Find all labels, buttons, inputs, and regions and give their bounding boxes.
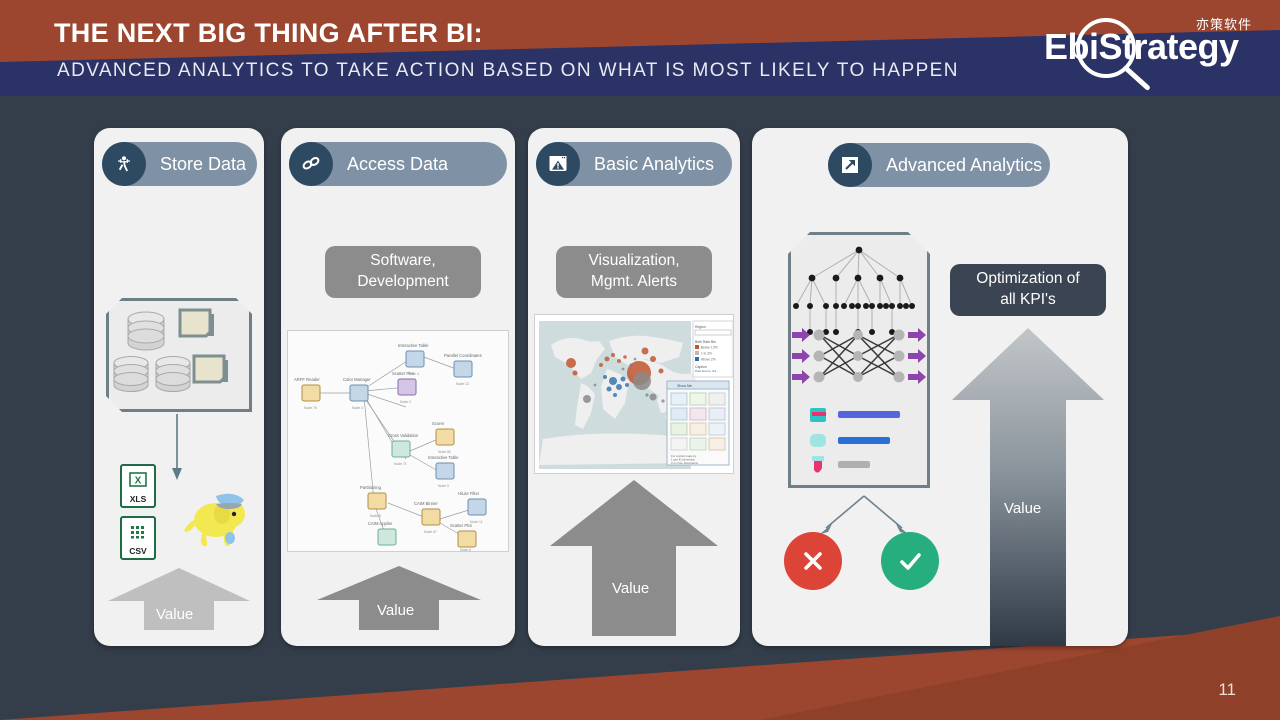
x-mark-icon	[798, 546, 828, 576]
svg-text:Node 8: Node 8	[460, 548, 471, 552]
svg-text:Node 67: Node 67	[424, 530, 437, 534]
logo-e: E	[1044, 26, 1068, 67]
value-label-store-data: Value	[156, 606, 193, 623]
reject-outcome	[784, 532, 842, 590]
value-arrow-access-data	[317, 566, 481, 630]
callout-access-data: Software, Development	[325, 246, 481, 298]
slide-canvas: THE NEXT BIG THING AFTER BI: ADVANCED AN…	[0, 0, 1280, 720]
world-map-dashboard-thumbnail: Region Birth Rate Bin Below 1.5% 1 to 2%…	[534, 314, 734, 474]
svg-text:Node 76: Node 76	[304, 406, 317, 410]
svg-text:Node 71: Node 71	[394, 462, 407, 466]
hadoop-elephant-icon	[172, 484, 250, 552]
value-label-basic-analytics: Value	[612, 580, 649, 597]
svg-text:Interactive Table: Interactive Table	[398, 343, 429, 348]
value-arrow-advanced-analytics	[952, 328, 1104, 646]
brand-logo: 亦策软件 EbiStrategy	[1028, 8, 1258, 86]
svg-text:Parallel Coordinates: Parallel Coordinates	[444, 353, 482, 358]
callout-basic-analytics-line1: Visualization,	[588, 252, 679, 269]
svg-text:0 or more dimensions: 0 or more dimensions	[671, 461, 698, 465]
svg-text:Node 4: Node 4	[408, 372, 419, 376]
svg-text:Partitioning: Partitioning	[360, 485, 382, 490]
accept-outcome	[881, 532, 939, 590]
svg-text:HiLite Filter: HiLite Filter	[458, 491, 480, 496]
callout-basic-analytics: Visualization, Mgmt. Alerts	[556, 246, 712, 298]
page-subtitle: ADVANCED ANALYTICS TO TAKE ACTION BASED …	[57, 60, 959, 82]
svg-text:Above 2%: Above 2%	[701, 358, 716, 362]
svg-text:Birth Rate Bin: Birth Rate Bin	[695, 340, 716, 344]
weightlifter-icon	[102, 142, 146, 186]
flow-arrow-down-icon	[170, 414, 184, 482]
panel-store-data[interactable]: Store Data	[94, 128, 264, 646]
svg-text:Below 1.5%: Below 1.5%	[701, 346, 718, 350]
svg-text:CAIM Applier: CAIM Applier	[368, 521, 393, 526]
svg-text:Node 80: Node 80	[438, 450, 451, 454]
value-label-access-data: Value	[377, 602, 414, 619]
panel-advanced-analytics[interactable]: Advanced Analytics	[752, 128, 1128, 646]
panel-access-data-pill[interactable]: Access Data	[289, 142, 507, 186]
panel-basic-analytics[interactable]: Basic Analytics Visualization, Mgmt. Ale…	[528, 128, 740, 646]
value-label-advanced-analytics: Value	[1004, 500, 1041, 517]
svg-text:X: X	[135, 476, 142, 487]
callout-basic-analytics-line2: Mgmt. Alerts	[591, 273, 677, 290]
csv-file-label: CSV	[129, 546, 146, 556]
recommendation-bars-icon	[808, 406, 918, 478]
datastore-contents-icon	[106, 298, 252, 412]
knime-workflow-thumbnail: ARFF ReaderColor Manager Interactive Tab…	[287, 330, 509, 552]
panel-basic-analytics-label: Basic Analytics	[580, 154, 732, 175]
trend-arrow-icon	[828, 143, 872, 187]
callout-access-data-line2: Development	[357, 273, 448, 290]
svg-text:Node 9: Node 9	[438, 484, 449, 488]
value-arrow-basic-analytics	[550, 480, 718, 636]
panel-store-data-label: Store Data	[146, 154, 264, 175]
svg-text:Node 11: Node 11	[470, 520, 483, 524]
callout-advanced-analytics: Optimization of all KPI's	[950, 264, 1106, 316]
svg-text:Region: Region	[695, 325, 706, 329]
svg-text:Cross Validation: Cross Validation	[388, 433, 419, 438]
panel-advanced-analytics-pill[interactable]: Advanced Analytics	[828, 143, 1050, 187]
svg-text:Node 3: Node 3	[352, 406, 363, 410]
svg-text:Node 5: Node 5	[370, 514, 381, 518]
neural-network-icon	[792, 326, 926, 392]
svg-text:Node 13: Node 13	[456, 382, 469, 386]
csv-file-icon: CSV	[120, 516, 156, 560]
xls-file-label: XLS	[130, 494, 147, 504]
panel-store-data-pill[interactable]: Store Data	[102, 142, 257, 186]
svg-text:ARFF Reader: ARFF Reader	[294, 377, 320, 382]
svg-text:Show Me: Show Me	[677, 384, 692, 388]
alert-window-icon	[536, 142, 580, 186]
xls-file-icon: X XLS	[120, 464, 156, 508]
svg-text:Node 2: Node 2	[400, 400, 411, 404]
svg-text:Color Manager: Color Manager	[343, 377, 371, 382]
svg-text:Scorer: Scorer	[432, 421, 445, 426]
panel-access-data[interactable]: Access Data Software, Development	[281, 128, 515, 646]
svg-text:Data Source: link: Data Source: link	[695, 369, 717, 373]
page-title: THE NEXT BIG THING AFTER BI:	[54, 18, 483, 49]
check-mark-icon	[894, 545, 926, 577]
callout-advanced-analytics-line1: Optimization of	[976, 270, 1079, 287]
panel-advanced-analytics-label: Advanced Analytics	[872, 155, 1060, 176]
chain-link-icon	[289, 142, 333, 186]
svg-text:1 to 2%: 1 to 2%	[701, 352, 712, 356]
panel-access-data-label: Access Data	[333, 154, 466, 175]
callout-access-data-line1: Software,	[370, 252, 435, 269]
page-number: 11	[1218, 680, 1236, 700]
brand-logo-wordmark: EbiStrategy	[1044, 26, 1239, 68]
svg-text:Interactive Table: Interactive Table	[428, 455, 459, 460]
callout-advanced-analytics-line2: all KPI's	[1000, 291, 1056, 308]
svg-text:CAIM Binner: CAIM Binner	[414, 501, 438, 506]
panel-basic-analytics-pill[interactable]: Basic Analytics	[536, 142, 732, 186]
